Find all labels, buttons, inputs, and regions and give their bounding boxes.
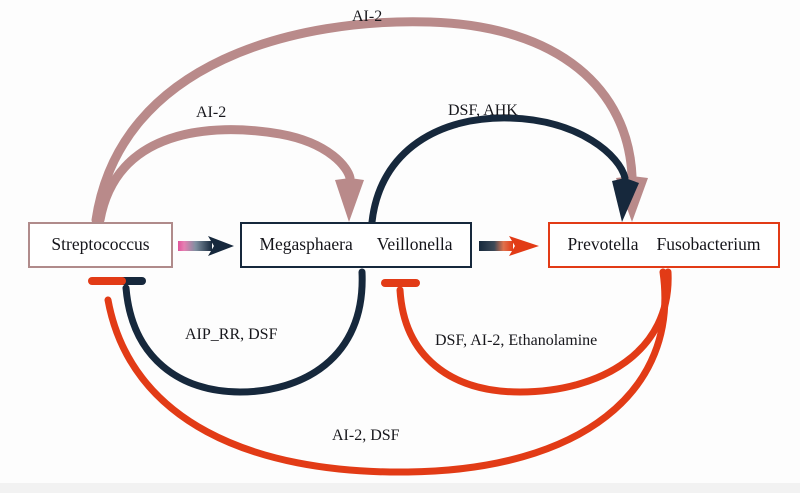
node-label-prevotella: Prevotella xyxy=(568,236,639,254)
node-megasphaera-veillonella[interactable]: Megasphaera Veillonella xyxy=(240,222,472,268)
diagram-canvas: Streptococcus Megasphaera Veillonella Pr… xyxy=(0,0,800,493)
edge-label-right-to-strep-ai2-dsf: AI-2, DSF xyxy=(332,427,400,445)
bottom-edge-strip xyxy=(0,483,800,493)
edge-label-strep-to-mid-ai2: AI-2 xyxy=(196,104,226,122)
node-label-fusobacterium: Fusobacterium xyxy=(656,236,760,254)
edge-label-right-to-mid-dsf-ai2-ethanolamine: DSF, AI-2, Ethanolamine xyxy=(435,332,597,350)
node-label-megasphaera: Megasphaera xyxy=(259,236,352,254)
connector-arrow-mid-to-right xyxy=(479,234,541,258)
edge-label-mid-to-right-dsf-ahk: DSF, AHK xyxy=(448,102,518,120)
edge-label-strep-to-right-ai2: AI-2 xyxy=(352,8,382,26)
edge-mid-to-right-dsf-ahk xyxy=(372,118,639,222)
node-streptococcus[interactable]: Streptococcus xyxy=(28,222,173,268)
connector-arrow-strep-to-mid xyxy=(178,234,236,258)
edge-strep-to-right-ai2 xyxy=(96,22,648,222)
node-label-veillonella: Veillonella xyxy=(377,236,453,254)
edge-label-mid-to-strep-aiprr-dsf: AIP_RR, DSF xyxy=(185,326,277,344)
node-label-streptococcus: Streptococcus xyxy=(51,236,149,254)
node-prevotella-fusobacterium[interactable]: Prevotella Fusobacterium xyxy=(548,222,780,268)
edge-strep-to-mid-ai2 xyxy=(100,130,364,222)
